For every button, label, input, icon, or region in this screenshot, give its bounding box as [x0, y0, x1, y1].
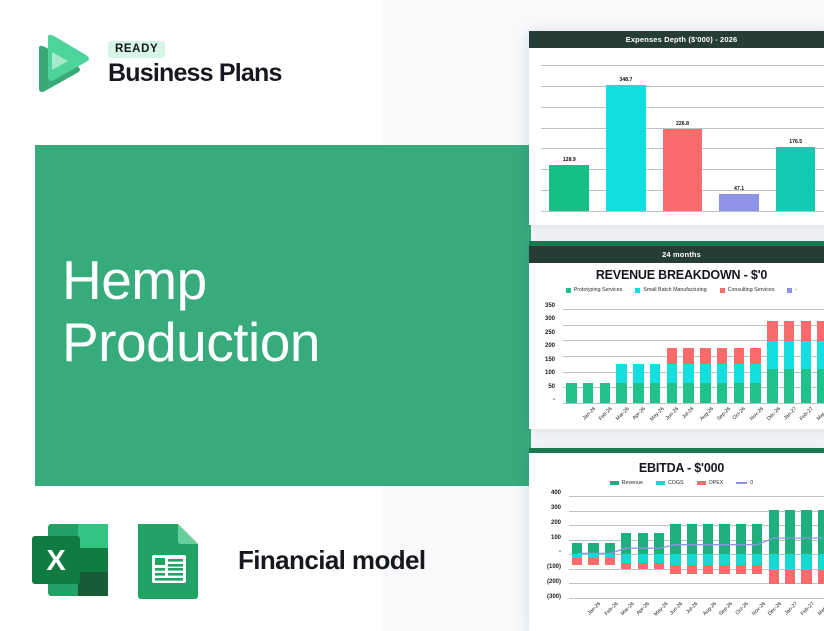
ebitda-y-axis: 400300200100-(100)(200)(300) [529, 490, 565, 604]
expenses-data-label: 128.9 [549, 157, 589, 163]
revenue-bar-segment [633, 364, 643, 383]
expenses-gridline [541, 86, 824, 87]
revenue-bar-segment [683, 383, 693, 403]
ebitda-y-tick: 200 [531, 520, 561, 526]
ebitda-legend: RevenueCOGSOPEX0 [529, 477, 824, 488]
revenue-bar-segment [784, 369, 794, 403]
revenue-bar-segment [616, 364, 626, 383]
ebitda-legend-item: 0 [736, 480, 753, 486]
revenue-plot-area: Jan-26Feb-26Mar-26Apr-26May-26Jun-26Jul-… [563, 309, 824, 403]
ebitda-x-tick: Aug-26 [702, 601, 718, 617]
revenue-bar-segment [801, 369, 811, 403]
revenue-legend-item: Prototyping Services [566, 287, 623, 293]
ebitda-legend-label: 0 [750, 480, 753, 486]
legend-swatch-icon [635, 288, 640, 293]
revenue-y-axis: 35030025020015010050- [529, 303, 559, 407]
revenue-bar-segment [683, 348, 693, 364]
revenue-x-tick: Jun-26 [665, 406, 680, 421]
revenue-y-tick: - [531, 397, 555, 403]
revenue-bar-segment [784, 341, 794, 369]
revenue-bar-segment [650, 383, 660, 403]
ebitda-x-tick: Mar-26 [620, 601, 636, 617]
revenue-bar-segment [667, 364, 677, 383]
ebitda-plot-area: Jan-26Feb-26Mar-26Apr-26May-26Jun-26Jul-… [569, 496, 824, 598]
revenue-x-tick: Jan-26 [581, 406, 596, 421]
revenue-y-tick: 50 [531, 384, 555, 390]
revenue-bar-segment [801, 321, 811, 341]
revenue-bar-segment [750, 364, 760, 383]
legend-line-icon [736, 482, 747, 484]
legend-swatch-icon [720, 288, 725, 293]
ebitda-x-tick: Jun-26 [669, 601, 684, 616]
ebitda-x-tick: Feb-26 [603, 601, 619, 617]
file-format-label: Financial model [238, 545, 426, 576]
ebitda-legend-item: Revenue [610, 480, 643, 486]
revenue-bar-segment [734, 383, 744, 403]
revenue-bar-segment [767, 321, 777, 341]
brand-logo-block: READY Business Plans [28, 30, 282, 96]
revenue-bar-segment [817, 369, 824, 403]
ebitda-legend-label: OPEX [709, 480, 724, 486]
revenue-x-tick: Oct-26 [732, 406, 747, 421]
expenses-bar [663, 129, 703, 211]
expenses-data-label: 226.8 [663, 121, 703, 127]
svg-text:X: X [46, 545, 66, 577]
revenue-bar-segment [616, 383, 626, 403]
revenue-heading: REVENUE BREAKDOWN - $'0 [529, 263, 824, 284]
revenue-title-bar: 24 months [529, 246, 824, 263]
expenses-bar [776, 147, 816, 211]
revenue-bar-segment [817, 321, 824, 341]
chart-card-expenses: Expenses Depth ($'000) - 2026 128.9348.7… [529, 31, 824, 225]
expenses-bar [606, 85, 646, 211]
revenue-bar-segment [667, 383, 677, 403]
ebitda-zero-line [569, 496, 824, 598]
page-title: Hemp Production [62, 250, 320, 373]
revenue-bar-segment [750, 348, 760, 364]
revenue-bar-segment [734, 364, 744, 383]
ebitda-x-tick: Mar-27 [816, 601, 824, 617]
expenses-gridline [541, 107, 824, 108]
revenue-legend-label: Small Batch Manufacturing [643, 287, 706, 293]
revenue-x-tick: Jan-27 [782, 406, 797, 421]
revenue-bar-segment [650, 364, 660, 383]
revenue-bar-segment [717, 348, 727, 364]
ebitda-x-tick: Jan-26 [587, 601, 602, 616]
revenue-legend-item: Small Batch Manufacturing [635, 287, 706, 293]
revenue-bar-segment [717, 383, 727, 403]
revenue-y-tick: 200 [531, 343, 555, 349]
ebitda-y-tick: 100 [531, 535, 561, 541]
ebitda-x-tick: Sep-26 [718, 601, 734, 617]
revenue-bar-segment [633, 383, 643, 403]
excel-icon: X [30, 520, 112, 600]
revenue-y-tick: 250 [531, 330, 555, 336]
ebitda-x-tick: Dec-26 [767, 601, 783, 617]
legend-swatch-icon [787, 288, 792, 293]
revenue-gridline [563, 403, 824, 404]
expenses-data-label: 176.5 [776, 139, 816, 145]
ebitda-x-tick: Jul-26 [685, 601, 699, 615]
revenue-x-tick: Jul-26 [681, 406, 695, 420]
ebitda-x-tick: Jan-27 [783, 601, 798, 616]
revenue-bar-segment [817, 341, 824, 369]
ebitda-legend-label: Revenue [622, 480, 643, 486]
legend-swatch-icon [656, 481, 665, 485]
brand-text: READY Business Plans [108, 41, 282, 86]
revenue-legend-item: - [787, 287, 797, 293]
legend-swatch-icon [697, 481, 706, 485]
expenses-gridline [541, 65, 824, 66]
expenses-bar [549, 165, 589, 211]
ebitda-legend-item: COGS [656, 480, 684, 486]
revenue-x-tick: Dec-26 [766, 406, 782, 422]
ebitda-x-tick: Feb-27 [800, 601, 816, 617]
revenue-bar-segment [767, 369, 777, 403]
legend-swatch-icon [610, 481, 619, 485]
expenses-bar [719, 194, 759, 211]
ebitda-x-tick: May-26 [653, 601, 669, 617]
ebitda-x-tick: Oct-26 [734, 601, 749, 616]
revenue-x-tick: Feb-26 [598, 406, 614, 422]
revenue-bar-segment [784, 321, 794, 341]
revenue-x-tick: Sep-26 [715, 406, 731, 422]
brand-name: Business Plans [108, 61, 282, 86]
ebitda-y-tick: - [531, 549, 561, 555]
revenue-bar-segment [700, 383, 710, 403]
revenue-y-tick: 350 [531, 303, 555, 309]
revenue-legend-item: Consulting Services [720, 287, 775, 293]
revenue-x-tick: Mar-26 [615, 406, 631, 422]
ebitda-legend-item: OPEX [697, 480, 724, 486]
ebitda-y-tick: 300 [531, 505, 561, 511]
revenue-bar-segment [700, 348, 710, 364]
ebitda-x-tick: Nov-26 [751, 601, 767, 617]
ready-badge: READY [108, 41, 165, 58]
revenue-gridline [563, 309, 824, 310]
ebitda-gridline [569, 598, 824, 599]
ebitda-x-tick: Apr-26 [636, 601, 651, 616]
revenue-x-tick: Apr-26 [631, 406, 646, 421]
expenses-data-label: 348.7 [606, 77, 646, 83]
revenue-legend-label: Prototyping Services [574, 287, 623, 293]
revenue-bar-segment [750, 383, 760, 403]
google-sheets-icon [132, 520, 214, 600]
revenue-bar-segment [717, 364, 727, 383]
revenue-x-tick: Feb-27 [799, 406, 815, 422]
chart-card-revenue: 24 months REVENUE BREAKDOWN - $'0 Protot… [529, 241, 824, 429]
revenue-bar-segment [801, 341, 811, 369]
revenue-bar-segment [700, 364, 710, 383]
revenue-legend-label: - [795, 287, 797, 293]
ebitda-y-tick: 400 [531, 490, 561, 496]
expenses-plot-area: 128.9348.7226.847.1176.5 [541, 65, 824, 217]
expenses-data-label: 47.1 [719, 186, 759, 192]
ebitda-y-tick: (200) [531, 579, 561, 585]
revenue-x-tick: May-26 [649, 406, 665, 422]
revenue-y-tick: 100 [531, 370, 555, 376]
revenue-x-tick: Aug-26 [699, 406, 715, 422]
file-format-row: X Financial model [30, 520, 426, 600]
expenses-gridline [541, 211, 824, 212]
revenue-bar-segment [566, 383, 576, 403]
legend-swatch-icon [566, 288, 571, 293]
revenue-y-tick: 300 [531, 316, 555, 322]
ebitda-y-tick: (100) [531, 564, 561, 570]
revenue-bar-segment [767, 341, 777, 369]
revenue-bar-segment [583, 383, 593, 403]
revenue-bar-segment [683, 364, 693, 383]
revenue-legend: Prototyping ServicesSmall Batch Manufact… [529, 284, 824, 295]
chart-card-ebitda: EBITDA - $'000 RevenueCOGSOPEX0 40030020… [529, 448, 824, 631]
revenue-y-tick: 150 [531, 357, 555, 363]
revenue-bar-segment [734, 348, 744, 364]
ebitda-heading: EBITDA - $'000 [529, 453, 824, 477]
ebitda-y-tick: (300) [531, 594, 561, 600]
play-triangle-logo-icon [28, 30, 94, 96]
revenue-legend-label: Consulting Services [728, 287, 775, 293]
expenses-title-bar: Expenses Depth ($'000) - 2026 [529, 31, 824, 48]
revenue-x-tick: Nov-26 [749, 406, 765, 422]
revenue-x-tick: Mar-27 [816, 406, 824, 422]
hero-banner: Hemp Production [35, 145, 531, 486]
revenue-bar-segment [667, 348, 677, 364]
ebitda-legend-label: COGS [668, 480, 684, 486]
revenue-bar-segment [600, 383, 610, 403]
